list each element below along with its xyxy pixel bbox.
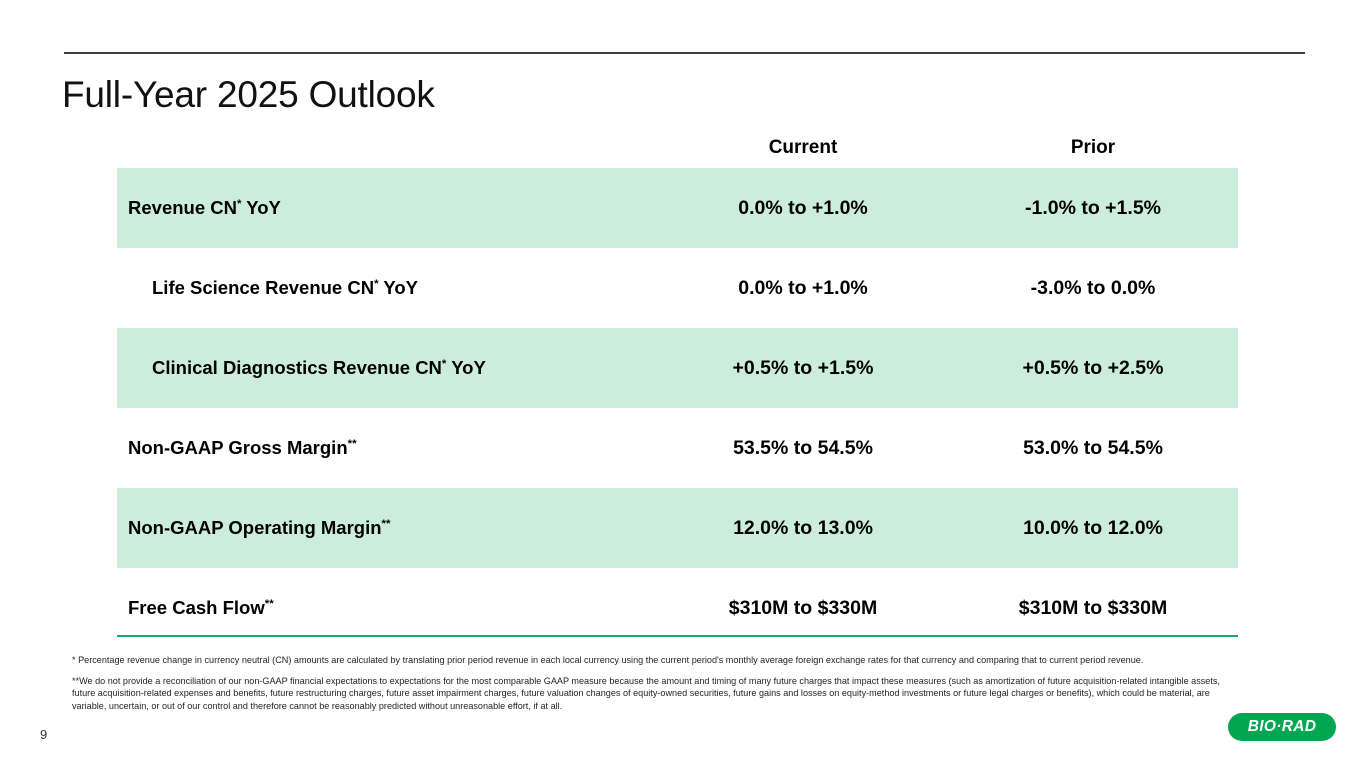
row-label-text: Non-GAAP Gross Margin bbox=[128, 437, 348, 458]
table-row: Life Science Revenue CN* YoY 0.0% to +1.… bbox=[117, 248, 1238, 328]
bio-rad-logo-text: BIO·RAD bbox=[1248, 718, 1316, 736]
row-prior-value: -3.0% to 0.0% bbox=[948, 277, 1238, 300]
row-current-value: 0.0% to +1.0% bbox=[658, 277, 948, 300]
row-label: Life Science Revenue CN* YoY bbox=[117, 277, 658, 299]
row-current-value: 12.0% to 13.0% bbox=[658, 517, 948, 540]
row-current-value: $310M to $330M bbox=[658, 597, 948, 620]
row-label-text: Revenue CN bbox=[128, 197, 237, 218]
row-prior-value: -1.0% to +1.5% bbox=[948, 197, 1238, 220]
row-label: Free Cash Flow** bbox=[117, 597, 658, 619]
row-label-superscript: ** bbox=[382, 518, 391, 530]
row-label-text: Clinical Diagnostics Revenue CN bbox=[152, 357, 442, 378]
row-label-tail: YoY bbox=[379, 277, 418, 298]
table-row: Non-GAAP Gross Margin** 53.5% to 54.5% 5… bbox=[117, 408, 1238, 488]
table-row: Clinical Diagnostics Revenue CN* YoY +0.… bbox=[117, 328, 1238, 408]
row-prior-value: 10.0% to 12.0% bbox=[948, 517, 1238, 540]
outlook-table: Current Prior Revenue CN* YoY 0.0% to +1… bbox=[117, 128, 1238, 648]
footnote-currency-neutral: * Percentage revenue change in currency … bbox=[72, 654, 1240, 667]
row-label: Clinical Diagnostics Revenue CN* YoY bbox=[117, 357, 658, 379]
row-label-tail: YoY bbox=[241, 197, 280, 218]
page-number: 9 bbox=[40, 727, 47, 742]
table-header-row: Current Prior bbox=[117, 128, 1238, 168]
table-bottom-divider bbox=[117, 635, 1238, 637]
row-label: Non-GAAP Operating Margin** bbox=[117, 517, 658, 539]
page-title: Full-Year 2025 Outlook bbox=[62, 74, 435, 116]
row-label-text: Life Science Revenue CN bbox=[152, 277, 374, 298]
header-divider bbox=[64, 52, 1305, 54]
row-prior-value: 53.0% to 54.5% bbox=[948, 437, 1238, 460]
slide-canvas: Full-Year 2025 Outlook Current Prior Rev… bbox=[0, 0, 1365, 768]
row-current-value: 0.0% to +1.0% bbox=[658, 197, 948, 220]
row-label-superscript: ** bbox=[348, 438, 357, 450]
row-label: Revenue CN* YoY bbox=[117, 197, 658, 219]
row-label-text: Non-GAAP Operating Margin bbox=[128, 517, 382, 538]
row-current-value: +0.5% to +1.5% bbox=[658, 357, 948, 380]
footnotes: * Percentage revenue change in currency … bbox=[72, 654, 1240, 720]
footnote-non-gaap: **We do not provide a reconciliation of … bbox=[72, 675, 1240, 713]
bio-rad-logo: BIO·RAD bbox=[1228, 713, 1336, 741]
row-label-text: Free Cash Flow bbox=[128, 597, 265, 618]
row-prior-value: +0.5% to +2.5% bbox=[948, 357, 1238, 380]
header-prior: Prior bbox=[948, 137, 1238, 159]
row-current-value: 53.5% to 54.5% bbox=[658, 437, 948, 460]
table-row: Non-GAAP Operating Margin** 12.0% to 13.… bbox=[117, 488, 1238, 568]
row-label-superscript: ** bbox=[265, 598, 274, 610]
header-current: Current bbox=[658, 137, 948, 159]
row-label: Non-GAAP Gross Margin** bbox=[117, 437, 658, 459]
row-label-tail: YoY bbox=[446, 357, 485, 378]
row-prior-value: $310M to $330M bbox=[948, 597, 1238, 620]
table-row: Revenue CN* YoY 0.0% to +1.0% -1.0% to +… bbox=[117, 168, 1238, 248]
